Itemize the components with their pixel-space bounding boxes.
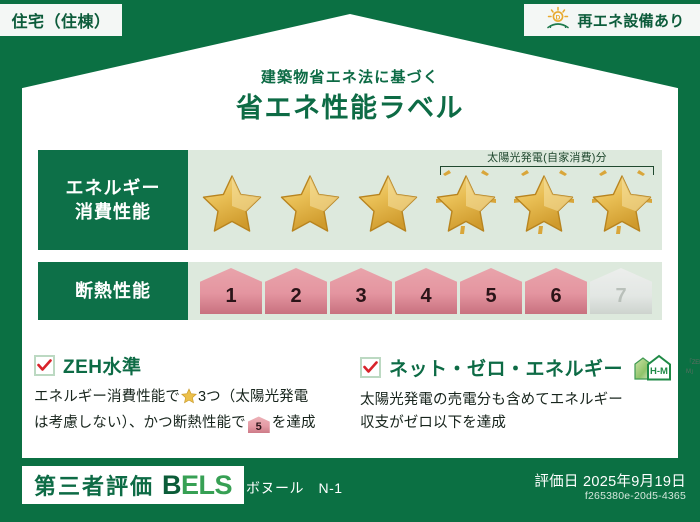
zeh-criterion-body: エネルギー消費性能で3つ（太陽光発電は考慮しない）、かつ断熱性能で5を達成 (34, 386, 344, 436)
insulation-grades-area: 1234567 (188, 262, 662, 320)
zeh-m-house-logo: H-M (632, 352, 678, 382)
bels-letters-els: ELS (181, 470, 232, 500)
solar-sun-icon: D (545, 6, 571, 35)
zeh-body-part2: 3つ（太陽光発電 (198, 389, 308, 405)
svg-text:D: D (556, 14, 561, 21)
energy-label-line1: エネルギー (66, 176, 161, 200)
bels-wordmark: BELS (162, 470, 232, 501)
insulation-performance-row: 断熱性能 1234567 (38, 262, 662, 320)
zeh-criterion-title: ZEH水準 (63, 352, 142, 379)
bels-letter-b: B (162, 470, 181, 500)
energy-performance-row: エネルギー 消費性能 太陽光発電(自家消費)分 (38, 150, 662, 250)
insulation-performance-label-box: 断熱性能 (38, 262, 188, 320)
renewable-label: 再エネ設備あり (577, 10, 684, 31)
house-grade-icon: 3 (330, 268, 392, 314)
zeh-body-part4: を達成 (272, 415, 316, 431)
bels-jp-label: 第三者評価 (34, 469, 154, 501)
house-grade-icon: 5 (248, 416, 270, 433)
net-zero-criterion-header: ネット・ゼロ・エネルギー H-M 「ZEH-M」 (360, 352, 666, 382)
house-grade-icon: 5 (460, 268, 522, 314)
evaluation-id: f265380e-20d5-4365 (585, 490, 686, 502)
gold-star-icon (194, 163, 270, 237)
net-zero-body-line2: 収支がゼロ以下を達成 (360, 415, 506, 431)
building-type-chip: 住宅（住棟） (0, 4, 122, 36)
label-subtitle: 建築物省エネ法に基づく (0, 66, 700, 87)
gold-star-icon (584, 163, 660, 237)
zeh-criterion: ZEH水準 エネルギー消費性能で3つ（太陽光発電は考慮しない）、かつ断熱性能で5… (34, 352, 344, 436)
bels-badge: 第三者評価 BELS (22, 466, 244, 504)
gold-star-icon (181, 392, 197, 408)
house-grade-icon: 6 (525, 268, 587, 314)
gold-star-icon (506, 163, 582, 237)
energy-performance-label: 住宅（住棟） D 再エネ設備あり 建築物省エネ法に基づく 省エネ性能 (0, 0, 700, 522)
star-rating (188, 163, 660, 237)
zeh-body-part3: は考慮しない）、かつ断熱性能で (34, 415, 246, 431)
renewable-equipment-chip: D 再エネ設備あり (524, 4, 700, 36)
house-grade-icon: 7 (590, 268, 652, 314)
svg-text:H-M: H-M (650, 366, 668, 377)
house-grade-icon: 4 (395, 268, 457, 314)
red-check-icon (34, 355, 55, 376)
energy-stars-area: 太陽光発電(自家消費)分 (188, 150, 662, 250)
zeh-m-logo-caption: 「ZEH-M」 (686, 357, 700, 377)
net-zero-criterion-title: ネット・ゼロ・エネルギー (389, 354, 623, 381)
net-zero-criterion: ネット・ゼロ・エネルギー H-M 「ZEH-M」 (360, 352, 666, 436)
house-grade-icon: 2 (265, 268, 327, 314)
page-title: 省エネ性能ラベル (0, 86, 700, 125)
zeh-body-part1: エネルギー消費性能で (34, 389, 180, 405)
zeh-criterion-header: ZEH水準 (34, 352, 344, 379)
building-type-label: 住宅（住棟） (11, 8, 110, 32)
net-zero-body-line1: 太陽光発電の売電分も含めてエネルギー (360, 392, 623, 408)
insulation-grade-scale: 1234567 (188, 268, 652, 314)
energy-performance-label-box: エネルギー 消費性能 (38, 150, 188, 250)
building-name: ボヌール N-1 (246, 478, 343, 498)
energy-label-line2: 消費性能 (75, 200, 151, 224)
red-check-icon (360, 357, 381, 378)
gold-star-icon (428, 163, 504, 237)
gold-star-icon (350, 163, 426, 237)
house-grade-icon: 1 (200, 268, 262, 314)
insulation-label: 断熱性能 (75, 279, 151, 303)
evaluation-date: 評価日 2025年9月19日 (534, 470, 686, 491)
gold-star-icon (272, 163, 348, 237)
net-zero-criterion-body: 太陽光発電の売電分も含めてエネルギー収支がゼロ以下を達成 (360, 389, 666, 436)
